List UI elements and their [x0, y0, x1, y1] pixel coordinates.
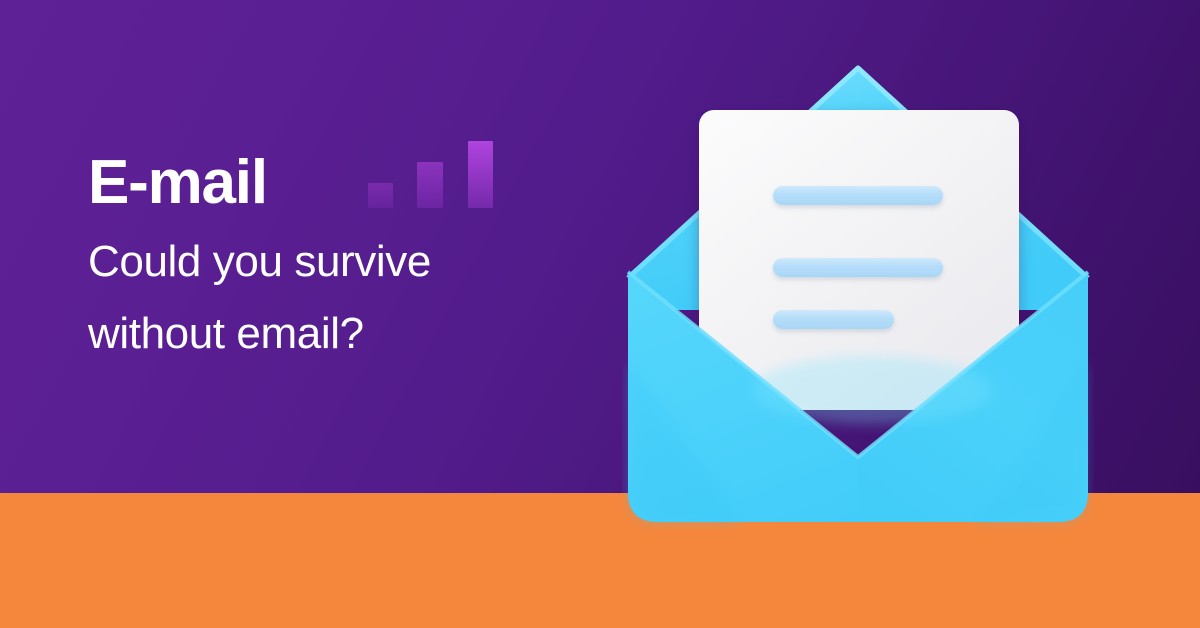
subtitle-line-2: without email? [88, 298, 558, 370]
subtitle-line-1: Could you survive [88, 226, 558, 298]
letter-line-1 [773, 186, 943, 205]
letter-line-3 [773, 310, 894, 329]
text-block: E-mail Could you survive without email? [88, 148, 558, 370]
envelope-illustration [622, 60, 1094, 530]
page-title: E-mail [88, 148, 558, 218]
letter-line-2 [773, 258, 943, 277]
email-banner: E-mail Could you survive without email? [0, 0, 1200, 628]
letter-text-lines [773, 186, 953, 336]
